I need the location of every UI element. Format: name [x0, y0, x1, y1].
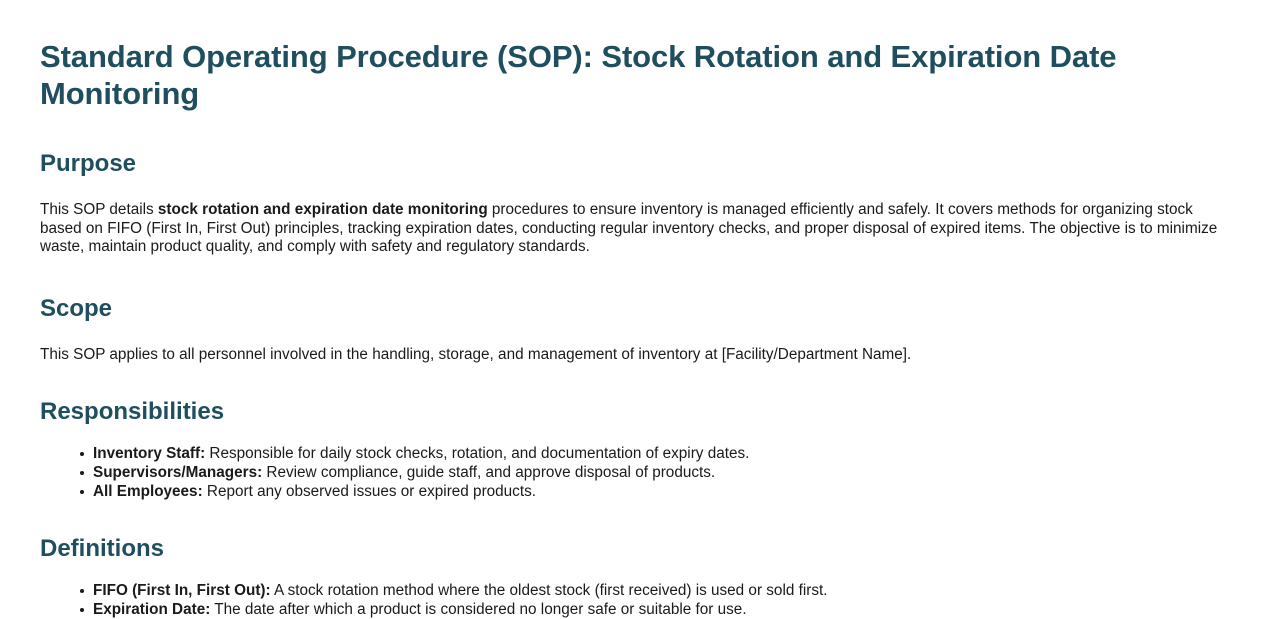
section-heading-definitions: Definitions — [40, 501, 1223, 563]
purpose-text-bold: stock rotation and expiration date monit… — [158, 201, 488, 218]
list-item: Supervisors/Managers: Review compliance,… — [80, 463, 1223, 482]
list-item-description: Review compliance, guide staff, and appr… — [262, 464, 715, 481]
scope-paragraph: This SOP applies to all personnel involv… — [40, 323, 1223, 365]
list-item-description: A stock rotation method where the oldest… — [271, 582, 828, 599]
responsibilities-list: Inventory Staff: Responsible for daily s… — [40, 426, 1223, 501]
list-item: All Employees: Report any observed issue… — [80, 482, 1223, 501]
section-heading-scope: Scope — [40, 257, 1223, 323]
section-heading-responsibilities: Responsibilities — [40, 364, 1223, 426]
section-heading-purpose: Purpose — [40, 112, 1223, 178]
list-item-description: Responsible for daily stock checks, rota… — [205, 445, 749, 462]
list-item-description: The date after which a product is consid… — [210, 601, 746, 618]
list-item-term: FIFO (First In, First Out): — [93, 582, 271, 599]
document-page: Standard Operating Procedure (SOP): Stoc… — [0, 0, 1263, 619]
list-item-term: All Employees: — [93, 483, 203, 500]
list-item-term: Inventory Staff: — [93, 445, 205, 462]
purpose-text-lead: This SOP details — [40, 201, 158, 218]
definitions-list: FIFO (First In, First Out): A stock rota… — [40, 563, 1223, 619]
purpose-paragraph: This SOP details stock rotation and expi… — [40, 178, 1223, 257]
list-item-term: Supervisors/Managers: — [93, 464, 262, 481]
list-item: FIFO (First In, First Out): A stock rota… — [80, 581, 1223, 600]
list-item-description: Report any observed issues or expired pr… — [203, 483, 536, 500]
list-item: Inventory Staff: Responsible for daily s… — [80, 444, 1223, 463]
page-title: Standard Operating Procedure (SOP): Stoc… — [40, 0, 1223, 112]
list-item-term: Expiration Date: — [93, 601, 210, 618]
list-item: Expiration Date: The date after which a … — [80, 600, 1223, 619]
